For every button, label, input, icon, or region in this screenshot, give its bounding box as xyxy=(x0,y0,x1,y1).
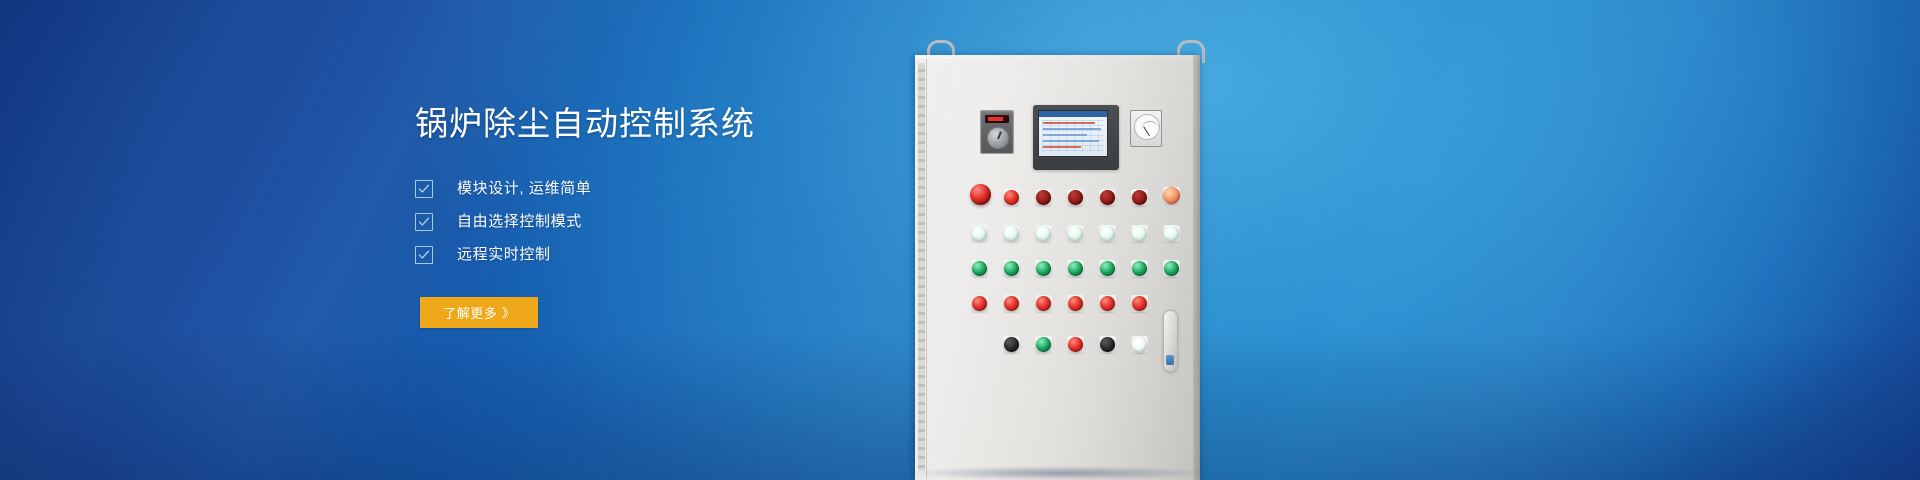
hero-banner: 锅炉除尘自动控制系统 模块设计, 运维简单 自由选择控制模式 xyxy=(0,0,1920,480)
lock-icon xyxy=(1166,355,1174,365)
indicator-lamp-red[interactable] xyxy=(1132,296,1147,311)
hmi-row xyxy=(1043,140,1099,142)
hmi-data-grid xyxy=(1042,120,1104,153)
learn-more-button[interactable]: 了解更多 》 xyxy=(420,297,538,328)
indicator-lamp-green[interactable] xyxy=(1068,261,1083,276)
feature-label: 远程实时控制 xyxy=(457,245,551,265)
push-button-red[interactable] xyxy=(1068,337,1083,352)
indicator-lamp-green[interactable] xyxy=(1036,261,1051,276)
indicator-lamp-white[interactable] xyxy=(1036,226,1051,241)
feature-item-2: 自由选择控制模式 xyxy=(415,205,895,238)
feature-label: 自由选择控制模式 xyxy=(457,212,582,232)
push-button-green[interactable] xyxy=(1036,337,1051,352)
indicator-lamp-red[interactable] xyxy=(1036,190,1051,205)
cabinet-ground-shadow xyxy=(910,466,1210,480)
indicator-lamp-red[interactable] xyxy=(1004,190,1019,205)
feature-item-3: 远程实时控制 xyxy=(415,238,895,271)
push-button-white[interactable] xyxy=(1132,337,1147,352)
timer-dial[interactable] xyxy=(987,127,1009,149)
checkbox-check-icon xyxy=(415,180,433,198)
door-handle-lock[interactable] xyxy=(1163,310,1178,372)
gauge-face xyxy=(1134,114,1160,140)
indicator-lamp-amber[interactable] xyxy=(1163,187,1180,204)
checkbox-check-icon xyxy=(415,246,433,264)
indicator-lamp-green[interactable] xyxy=(1004,261,1019,276)
hmi-row xyxy=(1043,122,1095,124)
indicator-lamp-white[interactable] xyxy=(1164,226,1179,241)
learn-more-label: 了解更多 xyxy=(443,303,497,322)
indicator-lamp-red[interactable] xyxy=(1004,296,1019,311)
indicator-lamp-white[interactable] xyxy=(1132,226,1147,241)
cabinet-body xyxy=(915,55,1200,480)
push-button-black[interactable] xyxy=(1100,337,1115,352)
hmi-row xyxy=(1043,146,1081,148)
indicator-lamp-red[interactable] xyxy=(1068,296,1083,311)
indicator-lamp-green[interactable] xyxy=(1132,261,1147,276)
indicator-lamp-white[interactable] xyxy=(1100,226,1115,241)
checkbox-check-icon xyxy=(415,213,433,231)
push-button-black[interactable] xyxy=(1004,337,1019,352)
indicator-lamp-red[interactable] xyxy=(1068,190,1083,205)
feature-list: 模块设计, 运维简单 自由选择控制模式 远程实时控制 xyxy=(415,172,895,271)
indicator-lamp-white[interactable] xyxy=(1004,226,1019,241)
hmi-touch-panel[interactable] xyxy=(1033,105,1119,170)
page-title: 锅炉除尘自动控制系统 xyxy=(415,104,895,144)
cabinet-door-seam xyxy=(926,59,927,479)
timer-display xyxy=(985,115,1009,123)
indicator-lamp-green[interactable] xyxy=(1164,261,1179,276)
hmi-title-bar xyxy=(1039,111,1107,117)
feature-label: 模块设计, 运维简单 xyxy=(457,179,591,199)
cabinet-hinge-strip xyxy=(918,63,925,471)
hmi-row xyxy=(1043,128,1101,130)
digital-timer-relay[interactable] xyxy=(980,110,1014,154)
indicator-lamp-red[interactable] xyxy=(1036,296,1051,311)
indicator-lamp-green[interactable] xyxy=(972,261,987,276)
cabinet-right-edge xyxy=(1193,55,1200,480)
indicator-lamp-red[interactable] xyxy=(1132,190,1147,205)
hmi-row xyxy=(1043,134,1087,136)
indicator-lamp-green[interactable] xyxy=(1100,261,1115,276)
control-cabinet-photo xyxy=(900,0,1300,480)
feature-item-1: 模块设计, 运维简单 xyxy=(415,172,895,205)
indicator-lamp-red[interactable] xyxy=(1100,296,1115,311)
emergency-stop-button[interactable] xyxy=(970,184,991,205)
hero-copy-block: 锅炉除尘自动控制系统 模块设计, 运维简单 自由选择控制模式 xyxy=(415,104,895,271)
analog-panel-meter xyxy=(1130,110,1162,147)
indicator-lamp-white[interactable] xyxy=(1068,226,1083,241)
indicator-lamp-white[interactable] xyxy=(972,226,987,241)
chevron-right-icon: 》 xyxy=(502,304,515,321)
indicator-lamp-red[interactable] xyxy=(1100,190,1115,205)
hmi-screen[interactable] xyxy=(1038,110,1108,157)
indicator-lamp-red[interactable] xyxy=(972,296,987,311)
